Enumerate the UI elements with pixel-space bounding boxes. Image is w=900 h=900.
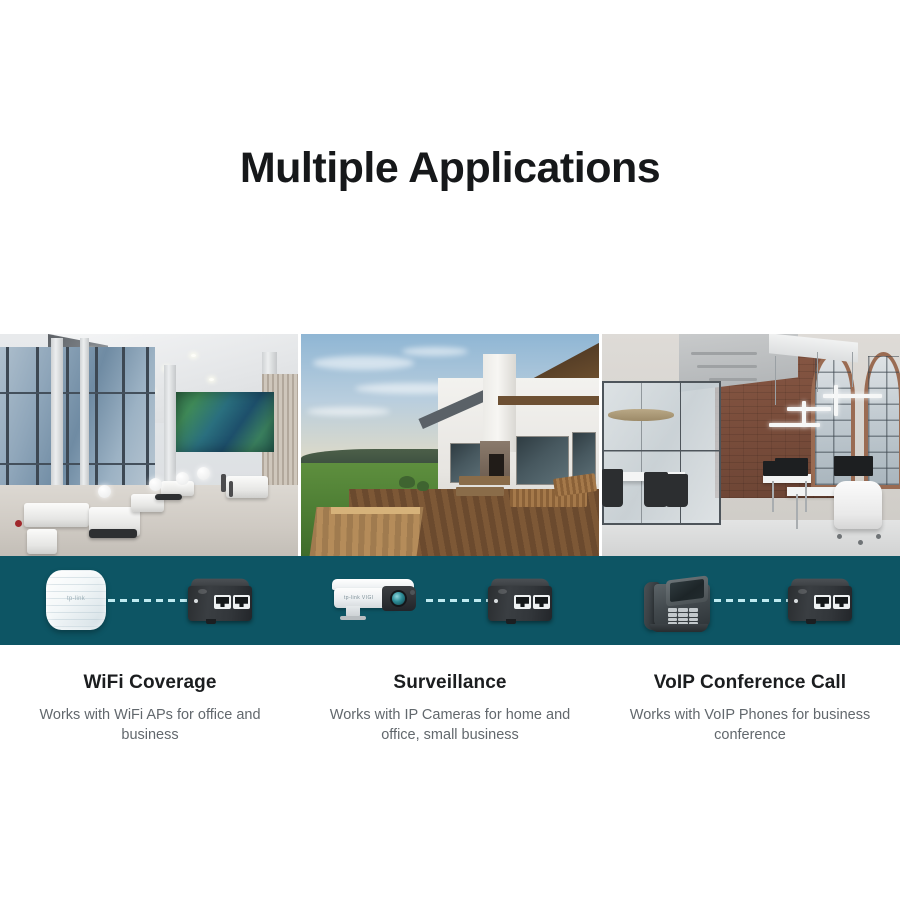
deck-shrub <box>417 481 429 491</box>
pendant-wire <box>775 356 776 405</box>
desk-leg <box>805 481 807 512</box>
lobby-person <box>229 481 233 497</box>
phone-cradle <box>650 624 708 632</box>
phone-key <box>689 613 698 617</box>
voip-phone-device <box>642 568 718 634</box>
lobby-side-unit <box>89 529 137 538</box>
pendant-light <box>823 394 883 398</box>
injector-power-plug <box>206 619 216 624</box>
phone-key <box>678 618 687 622</box>
caption-description: Works with VoIP Phones for business conf… <box>618 705 882 745</box>
deck-dining-table <box>459 476 510 485</box>
injector-rj45-port-out <box>233 595 250 609</box>
poe-injector-device <box>788 576 852 623</box>
deck-bench <box>456 487 504 496</box>
caption-surveillance: Surveillance Works with IP Cameras for h… <box>300 672 600 745</box>
voip-diagram <box>600 556 900 645</box>
phone-key <box>678 613 687 617</box>
wifi-access-point-device: tp-link <box>46 570 106 630</box>
caption-row: WiFi Coverage Works with WiFi APs for of… <box>0 672 900 745</box>
pendant-light <box>834 385 838 416</box>
injector-power-plug <box>806 619 816 624</box>
phone-key <box>668 608 677 612</box>
caption-title: Surveillance <box>318 672 582 694</box>
desk-leg <box>796 494 798 530</box>
injector-logo <box>198 589 207 594</box>
camera-ir-led-icon <box>410 590 415 595</box>
lobby-table-lamp-icon <box>176 472 189 485</box>
camera-brand-logo: tp-link VIGI <box>344 595 374 601</box>
injector-rj45-port-in <box>514 595 531 609</box>
open-office-photo <box>602 334 900 556</box>
lobby-column <box>164 365 176 480</box>
deck-step <box>309 507 423 556</box>
pendant-light <box>802 401 806 428</box>
sky-cloud <box>402 347 468 356</box>
caption-description: Works with WiFi APs for office and busin… <box>18 705 282 745</box>
deck-step-edge <box>331 507 420 514</box>
pendant-wire <box>852 352 853 388</box>
injector-led-indicator <box>194 599 198 603</box>
injector-power-plug <box>506 619 516 624</box>
lobby-sofa <box>24 503 90 527</box>
ceiling-duct <box>691 352 757 355</box>
meeting-chair <box>644 472 668 508</box>
lobby-armchair <box>27 529 57 553</box>
caption-title: VoIP Conference Call <box>618 672 882 694</box>
sky-cloud <box>307 407 390 416</box>
camera-mount-base <box>340 616 366 620</box>
injector-led-indicator <box>494 599 498 603</box>
ethernet-link-line <box>108 599 188 602</box>
desk-leg <box>772 481 774 512</box>
pendant-wire <box>817 352 818 392</box>
desk-monitor <box>763 461 778 477</box>
chair-caster <box>876 534 881 539</box>
ceiling-downlight-icon <box>191 354 196 357</box>
injector-logo <box>798 589 807 594</box>
office-lobby-photo <box>0 334 298 556</box>
caption-voip-conference-call: VoIP Conference Call Works with VoIP Pho… <box>600 672 900 745</box>
lobby-side-unit <box>155 494 182 501</box>
injector-rj45-port-in <box>214 595 231 609</box>
meeting-chair <box>665 474 689 507</box>
window-rail <box>0 463 155 465</box>
caption-title: WiFi Coverage <box>18 672 282 694</box>
deck-shrub <box>399 476 415 488</box>
phone-key <box>668 618 677 622</box>
injector-rj45-port-out <box>533 595 550 609</box>
meeting-chair <box>602 469 623 507</box>
ip-camera-device: tp-link VIGI <box>332 578 424 620</box>
application-diagram-band: tp-link tp-link VIGI <box>0 556 900 645</box>
lobby-person <box>221 474 226 492</box>
pendant-light <box>787 407 832 411</box>
injector-rj45-port-out <box>833 595 850 609</box>
wifi-coverage-diagram: tp-link <box>0 556 300 645</box>
injector-logo <box>498 589 507 594</box>
multiple-applications-page: Multiple Applications <box>0 0 900 900</box>
phone-key <box>689 618 698 622</box>
camera-lens <box>392 592 405 605</box>
phone-key <box>689 608 698 612</box>
ethernet-link-line <box>714 599 788 602</box>
house-eave <box>498 396 599 405</box>
phone-key <box>668 613 677 617</box>
ceiling-duct <box>697 365 757 368</box>
ethernet-link-line <box>426 599 488 602</box>
house-deck-photo <box>301 334 599 556</box>
lobby-table-lamp-icon <box>197 467 210 480</box>
ceiling-fan-icon <box>608 409 674 420</box>
office-chair <box>834 481 882 530</box>
window-rail <box>0 392 155 394</box>
injector-led-indicator <box>794 599 798 603</box>
surveillance-diagram: tp-link VIGI <box>300 556 600 645</box>
access-point-brand-logo: tp-link <box>67 596 85 602</box>
desk-monitor <box>775 458 808 476</box>
desk-monitor <box>834 456 873 476</box>
injector-rj45-port-in <box>814 595 831 609</box>
caption-wifi-coverage: WiFi Coverage Works with WiFi APs for of… <box>0 672 300 745</box>
page-title: Multiple Applications <box>0 143 900 193</box>
sky-cloud <box>313 356 414 369</box>
pendant-light <box>769 423 820 427</box>
phone-key <box>678 608 687 612</box>
poe-injector-device <box>488 576 552 623</box>
photo-strip <box>0 334 900 556</box>
caption-description: Works with IP Cameras for home and offic… <box>318 705 582 745</box>
lobby-wall-mural <box>176 392 274 452</box>
poe-injector-device <box>188 576 252 623</box>
